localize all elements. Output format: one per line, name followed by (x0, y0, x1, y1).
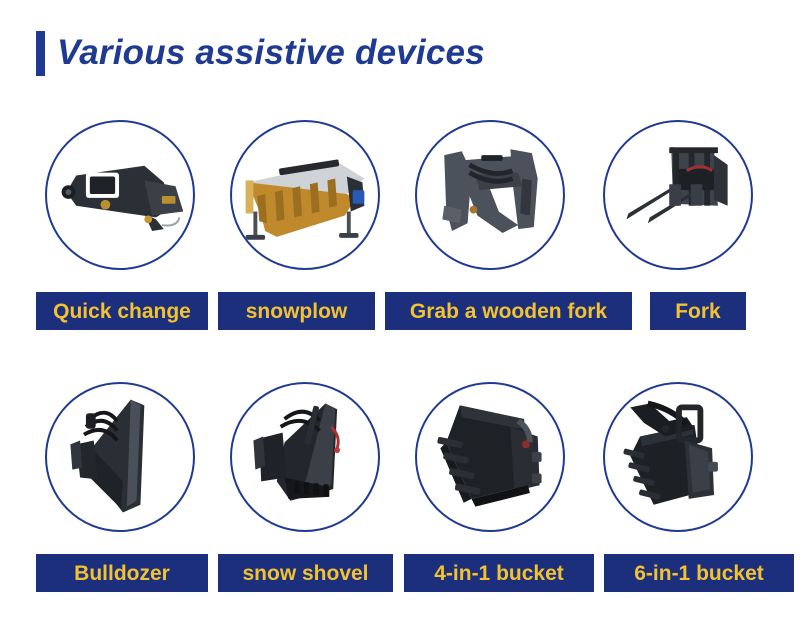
product-label-text: snowplow (246, 301, 348, 322)
snow-blade-photo (230, 382, 380, 532)
product-label-6-in-1-bucket[interactable]: 6-in-1 bucket (604, 554, 794, 592)
page-title: Various assistive devices (57, 28, 485, 78)
product-label-snowplow[interactable]: snowplow (218, 292, 375, 330)
quick-change-coupler-photo (45, 120, 195, 270)
log-grapple-fork-photo (415, 120, 565, 270)
product-row-1: Quick change (0, 108, 800, 348)
product-row-2: Bulldozer (0, 370, 800, 610)
product-label-text: Bulldozer (74, 563, 170, 584)
product-label-text: snow shovel (242, 563, 368, 584)
product-label-grab-wooden-fork[interactable]: Grab a wooden fork (385, 292, 632, 330)
product-label-text: Grab a wooden fork (410, 301, 607, 322)
page-header: Various assistive devices (0, 0, 800, 108)
product-label-bulldozer[interactable]: Bulldozer (36, 554, 208, 592)
product-label-text: Fork (675, 301, 721, 322)
product-label-fork[interactable]: Fork (650, 292, 746, 330)
title-accent-bar (36, 31, 45, 76)
snowplow-sweeper-photo (230, 120, 380, 270)
dozer-blade-photo (45, 382, 195, 532)
product-label-4-in-1-bucket[interactable]: 4-in-1 bucket (404, 554, 594, 592)
product-label-snow-shovel[interactable]: snow shovel (218, 554, 393, 592)
four-in-one-bucket-photo (415, 382, 565, 532)
product-label-text: 6-in-1 bucket (634, 563, 764, 584)
six-in-one-bucket-photo (603, 382, 753, 532)
product-label-text: Quick change (53, 301, 191, 322)
pallet-fork-photo (603, 120, 753, 270)
product-label-text: 4-in-1 bucket (434, 563, 564, 584)
product-label-quick-change[interactable]: Quick change (36, 292, 208, 330)
